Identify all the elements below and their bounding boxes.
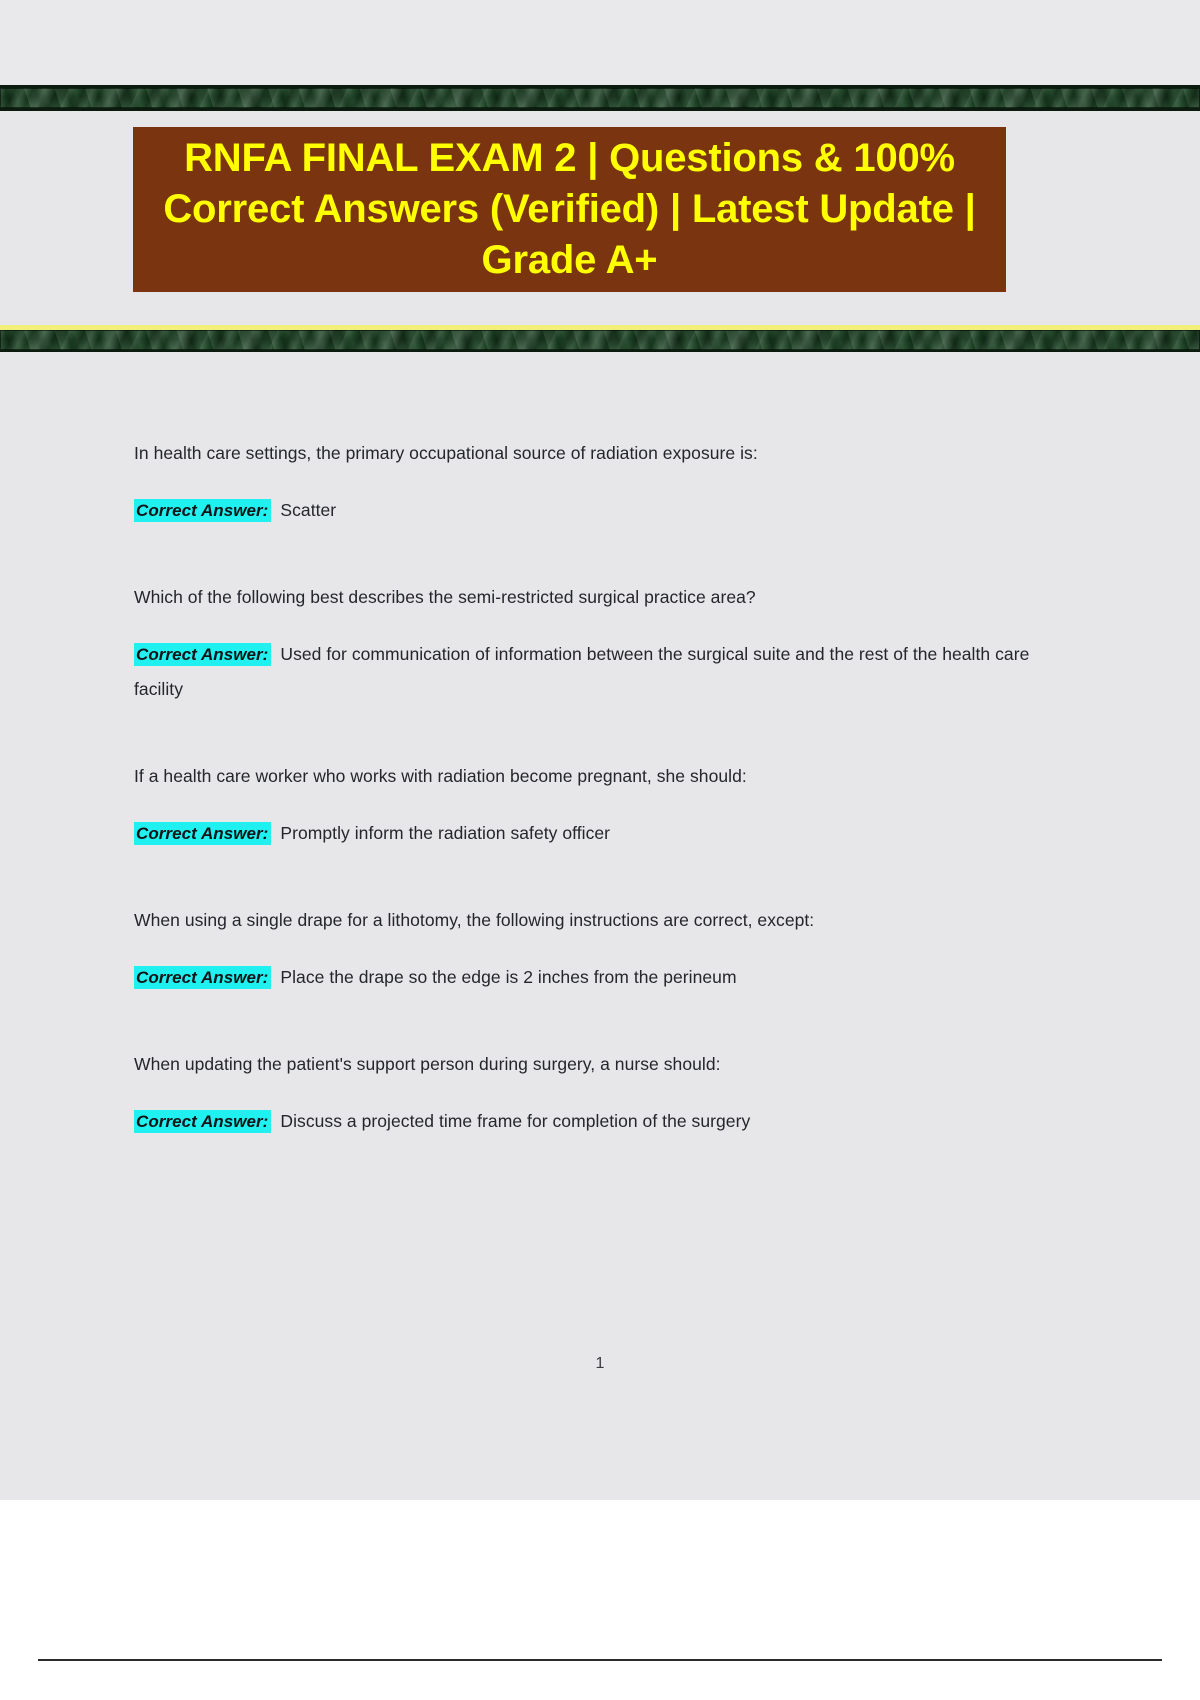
title-banner: RNFA FINAL EXAM 2 | Questions & 100% Cor… (133, 127, 1006, 292)
answer-row: Correct Answer:Promptly inform the radia… (134, 816, 1074, 850)
qa-item: In health care settings, the primary occ… (134, 440, 1074, 527)
correct-answer-label: Correct Answer: (134, 1110, 271, 1133)
answer-row: Correct Answer:Place the drape so the ed… (134, 960, 1074, 994)
answer-row: Correct Answer:Scatter (134, 493, 1074, 527)
qa-list: In health care settings, the primary occ… (134, 440, 1074, 1138)
qa-item: When updating the patient's support pers… (134, 1051, 1074, 1138)
bottom-divider (38, 1659, 1162, 1661)
question-text: In health care settings, the primary occ… (134, 440, 1074, 467)
answer-text: Place the drape so the edge is 2 inches … (280, 967, 736, 987)
correct-answer-label: Correct Answer: (134, 822, 271, 845)
qa-item: When using a single drape for a lithotom… (134, 907, 1074, 994)
document-page: RNFA FINAL EXAM 2 | Questions & 100% Cor… (0, 0, 1200, 1500)
answer-text: Promptly inform the radiation safety off… (280, 823, 610, 843)
page-bottom-gap (0, 1500, 1200, 1700)
decorative-green-bar-bottom (0, 325, 1200, 352)
answer-row: Correct Answer:Discuss a projected time … (134, 1104, 1074, 1138)
qa-item: Which of the following best describes th… (134, 584, 1074, 705)
correct-answer-label: Correct Answer: (134, 499, 271, 522)
question-text: Which of the following best describes th… (134, 584, 1074, 611)
correct-answer-label: Correct Answer: (134, 966, 271, 989)
qa-item: If a health care worker who works with r… (134, 763, 1074, 850)
question-text: When using a single drape for a lithotom… (134, 907, 1074, 934)
answer-text: Scatter (280, 500, 336, 520)
answer-row: Correct Answer:Used for communication of… (134, 637, 1074, 705)
question-text: If a health care worker who works with r… (134, 763, 1074, 790)
question-text: When updating the patient's support pers… (134, 1051, 1074, 1078)
document-title: RNFA FINAL EXAM 2 | Questions & 100% Cor… (143, 133, 996, 287)
decorative-green-bar-top (0, 85, 1200, 111)
answer-text: Discuss a projected time frame for compl… (280, 1111, 750, 1131)
page-top-margin (0, 0, 1200, 85)
page-number: 1 (0, 1355, 1200, 1373)
correct-answer-label: Correct Answer: (134, 643, 271, 666)
